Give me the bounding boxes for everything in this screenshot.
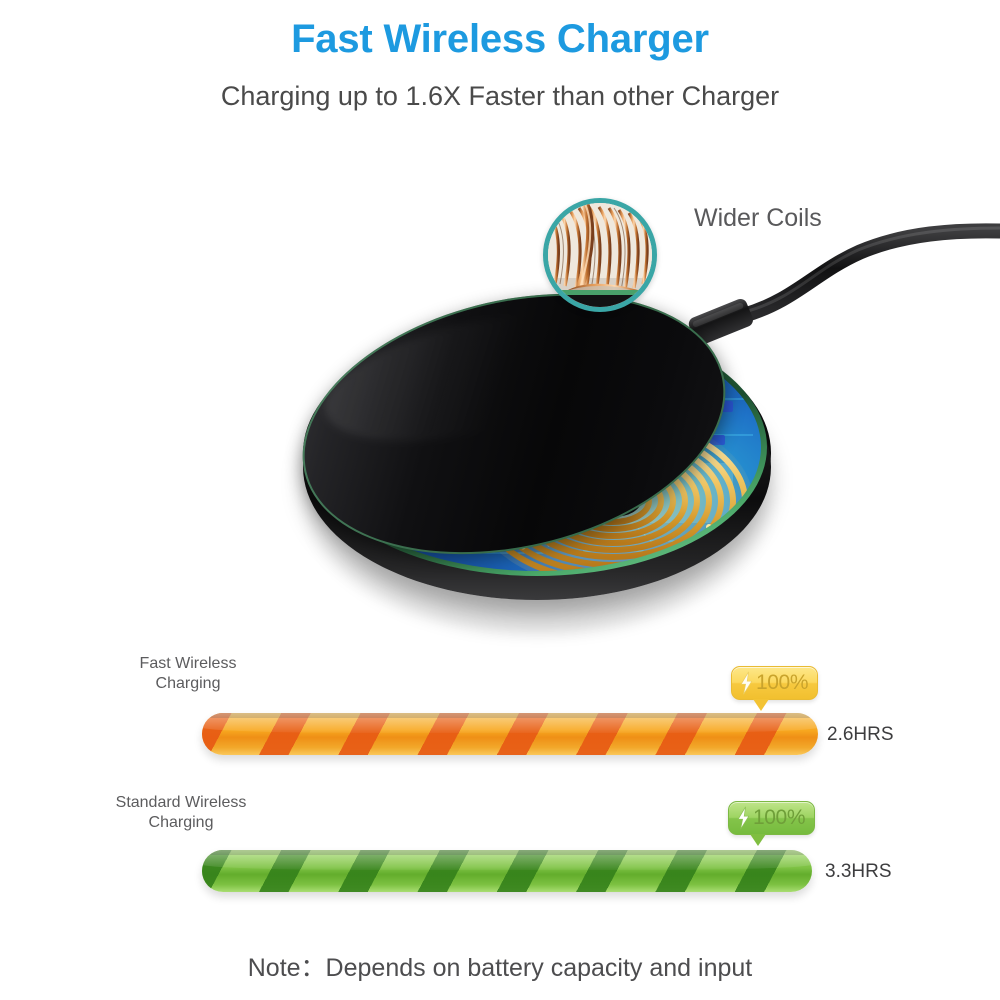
duration-standard: 3.3HRS xyxy=(825,861,892,883)
bar-label-fast-line1: Fast Wireless xyxy=(130,654,246,674)
badge-standard-100: 100% xyxy=(728,801,815,835)
bar-fast-gloss xyxy=(202,713,818,733)
product-image xyxy=(255,280,815,670)
bar-label-fast-line2: Charging xyxy=(130,674,246,694)
badge-fast-percent: 100% xyxy=(756,671,808,695)
bar-label-standard-line2: Charging xyxy=(105,813,257,833)
footer-note: Note：Depends on battery capacity and inp… xyxy=(0,948,1000,984)
page-title: Fast Wireless Charger xyxy=(0,18,1000,60)
badge-standard-tail xyxy=(750,834,766,846)
lightning-bolt-icon xyxy=(738,671,755,695)
bar-label-standard: Standard Wireless Charging xyxy=(105,793,257,834)
bar-standard-wireless xyxy=(202,850,812,892)
bar-standard-gloss xyxy=(202,850,812,870)
callout-label-wider-coils: Wider Coils xyxy=(694,204,822,233)
bar-label-fast: Fast Wireless Charging xyxy=(130,654,246,695)
lightning-bolt-icon xyxy=(735,806,752,830)
badge-standard-percent: 100% xyxy=(753,806,805,830)
bar-fast-wireless xyxy=(202,713,818,755)
infographic-canvas: Fast Wireless Charger Charging up to 1.6… xyxy=(0,0,1000,1000)
coil-closeup-magnifier xyxy=(543,198,657,312)
badge-fast-100: 100% xyxy=(731,666,818,700)
duration-fast: 2.6HRS xyxy=(827,724,894,746)
page-subtitle: Charging up to 1.6X Faster than other Ch… xyxy=(0,80,1000,112)
bar-label-standard-line1: Standard Wireless xyxy=(105,793,257,813)
badge-fast-tail xyxy=(753,699,769,711)
